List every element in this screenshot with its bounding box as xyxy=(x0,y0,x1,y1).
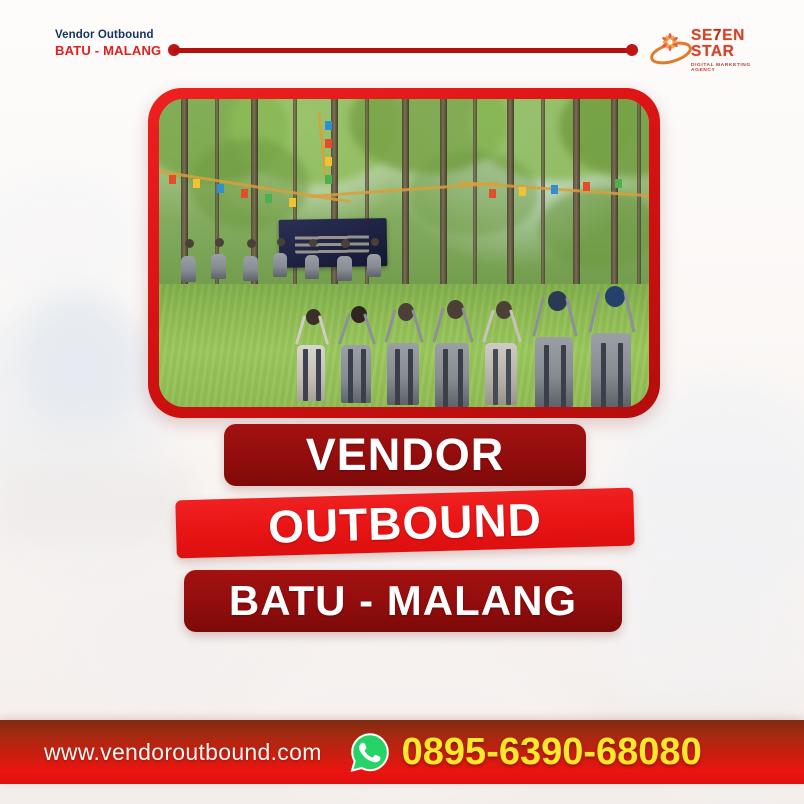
photo-flag xyxy=(265,194,272,203)
header-divider xyxy=(168,44,638,56)
photo-person xyxy=(387,287,421,405)
title-text-outbound: OUTBOUND xyxy=(267,492,542,554)
photo-person xyxy=(211,237,227,279)
title-band-location: BATU - MALANG xyxy=(184,570,622,632)
photo-tree-trunk xyxy=(440,99,447,307)
photo-flag xyxy=(325,139,332,148)
photo-person xyxy=(337,238,353,281)
footer-contact-bar: www.vendoroutbound.com 0895-6390-68080 xyxy=(0,720,804,784)
photo-person xyxy=(367,237,383,277)
star-burst-icon xyxy=(650,26,694,66)
poster-canvas: Vendor Outbound BATU - MALANG xyxy=(0,0,804,804)
header: Vendor Outbound BATU - MALANG xyxy=(0,0,804,88)
photo-person xyxy=(273,237,289,277)
company-logo: SE7EN STAR DIGITAL MARKETING AGENCY xyxy=(650,25,762,67)
photo-flag xyxy=(325,175,332,184)
whatsapp-phone-number[interactable]: 0895-6390-68080 xyxy=(402,731,702,774)
photo-flag xyxy=(241,189,248,198)
website-url[interactable]: www.vendoroutbound.com xyxy=(44,739,322,766)
watermark-blob xyxy=(20,290,140,440)
photo-flag xyxy=(169,175,176,184)
photo-person xyxy=(591,267,633,407)
logo-text: SE7EN STAR DIGITAL MARKETING AGENCY xyxy=(691,28,762,72)
photo-flag xyxy=(583,182,590,191)
photo-tree-trunk xyxy=(331,99,338,314)
photo-person xyxy=(535,273,575,407)
photo-flag xyxy=(325,121,332,130)
photo-person xyxy=(181,238,197,282)
whatsapp-icon[interactable] xyxy=(350,732,390,772)
photo-flag xyxy=(217,184,224,193)
photo-flag xyxy=(551,185,558,194)
brand-location: BATU - MALANG xyxy=(55,43,161,58)
brand-name: Vendor Outbound xyxy=(55,29,161,43)
photo-flag xyxy=(289,198,296,207)
photo-person xyxy=(305,237,321,279)
title-text-location: BATU - MALANG xyxy=(229,577,577,625)
title-text-vendor: VENDOR xyxy=(306,429,505,481)
brand-block: Vendor Outbound BATU - MALANG xyxy=(55,29,161,58)
photo-tree-trunk xyxy=(473,99,477,295)
photo-tree-trunk xyxy=(541,99,545,301)
title-band-outbound: OUTBOUND xyxy=(175,488,634,559)
hero-photo xyxy=(159,99,649,407)
logo-name: SE7EN STAR xyxy=(691,28,762,59)
title-band-vendor: VENDOR xyxy=(224,424,586,486)
photo-flag xyxy=(519,187,526,196)
photo-person xyxy=(243,238,259,281)
watermark-blob xyxy=(0,470,190,540)
photo-person xyxy=(485,285,519,405)
watermark-blob xyxy=(0,170,140,310)
photo-flag xyxy=(489,189,496,198)
hero-photo-frame xyxy=(148,88,660,418)
divider-dot-right-icon xyxy=(626,44,638,56)
photo-person xyxy=(297,295,327,401)
photo-tree-trunk xyxy=(402,99,409,313)
divider-line xyxy=(173,48,633,53)
logo-tagline: DIGITAL MARKETING AGENCY xyxy=(691,62,766,72)
photo-tree-trunk xyxy=(507,99,514,315)
photo-flag xyxy=(193,179,200,188)
photo-person xyxy=(435,283,471,407)
photo-tree-trunk xyxy=(637,99,641,297)
photo-flag xyxy=(615,179,622,188)
photo-foliage xyxy=(539,189,649,269)
photo-person xyxy=(341,291,373,403)
photo-flag xyxy=(325,157,332,166)
